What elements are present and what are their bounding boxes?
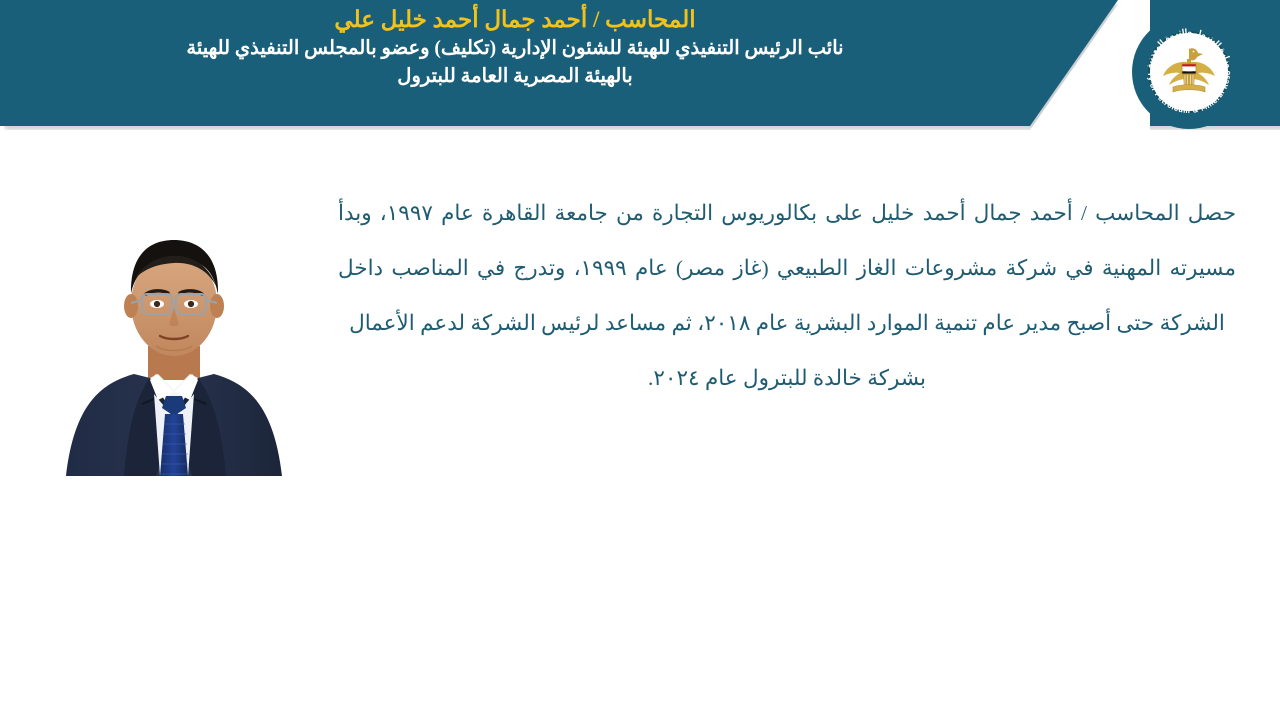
page-title: المحاسب / أحمد جمال أحمد خليل علي [334,5,695,34]
header-subtitle-line-2: بالهيئة المصرية العامة للبترول [397,63,632,91]
biography-text: حصل المحاسب / أحمد جمال أحمد خليل على بك… [338,186,1236,406]
portrait-photo [38,228,310,476]
bio-last-line: بشركة خالدة للبترول عام ٢٠٢٤. [338,351,1236,406]
bio-paragraph: حصل المحاسب / أحمد جمال أحمد خليل على بك… [338,186,1236,351]
header-text-block: المحاسب / أحمد جمال أحمد خليل علي نائب ا… [0,0,1030,126]
header-banner: المحاسب / أحمد جمال أحمد خليل علي نائب ا… [0,0,1280,126]
ministry-logo: وزارة البترول والثروة المعدنية Ministry … [1131,14,1247,130]
header-subtitle-line-1: نائب الرئيس التنفيذي للهيئة للشئون الإدا… [186,35,843,63]
